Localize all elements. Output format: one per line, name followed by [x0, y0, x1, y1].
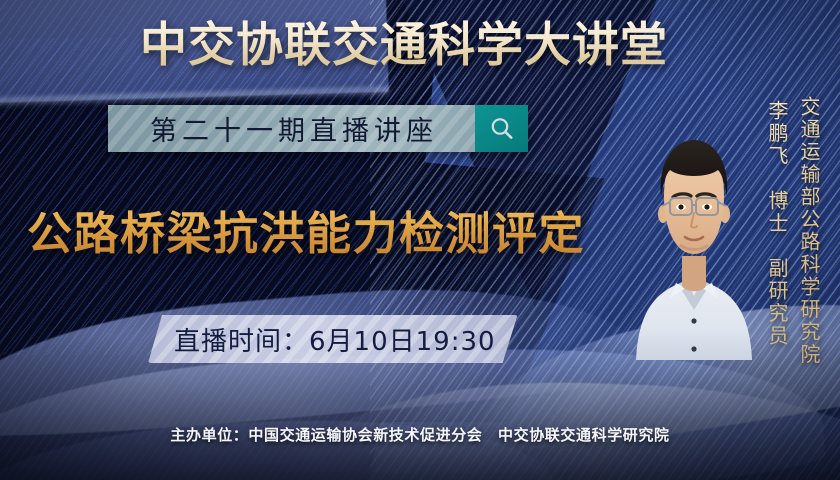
speaker-photo	[630, 118, 758, 360]
lecture-headline: 公路桥梁抗洪能力检测评定	[27, 203, 585, 265]
page-title: 中交协联交通科学大讲堂	[140, 16, 668, 76]
session-label: 第二十一期直播讲座	[145, 109, 438, 148]
schedule-text: 直播时间：6月10日19:30	[174, 321, 496, 358]
speaker-name: 李鹏飞 博士 副研究员	[763, 100, 792, 348]
search-icon	[487, 114, 517, 144]
live-lecture-poster: 中交协联交通科学大讲堂 第二十一期直播讲座 公路桥梁抗洪能力检测评定 直播时间：…	[0, 0, 840, 480]
session-banner-body: 第二十一期直播讲座	[108, 105, 475, 152]
avatar	[630, 118, 758, 360]
speaker-organization: 交通运输部公路科学研究院	[795, 96, 824, 366]
search-icon-box	[475, 105, 528, 152]
schedule-badge: 直播时间：6月10日19:30	[148, 315, 518, 363]
organizer-footer: 主办单位：中国交通运输协会新技术促进分会 中交协联交通科学研究院	[0, 424, 840, 445]
poster-content: 中交协联交通科学大讲堂 第二十一期直播讲座 公路桥梁抗洪能力检测评定 直播时间：…	[0, 0, 840, 480]
session-banner: 第二十一期直播讲座	[108, 105, 528, 152]
